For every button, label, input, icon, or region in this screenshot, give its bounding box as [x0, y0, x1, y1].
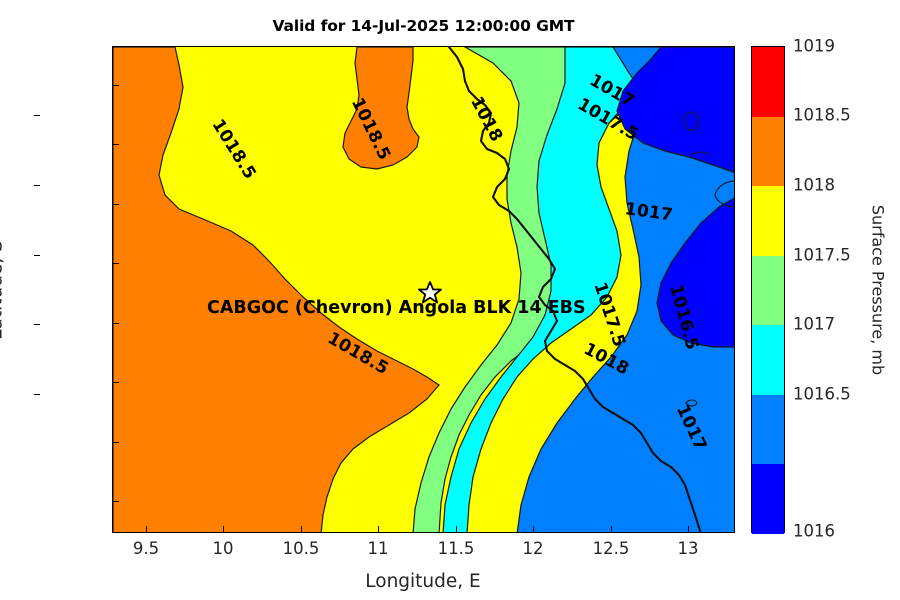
colorbar-tick-mark: [34, 394, 40, 395]
x-tick-label: 12.5: [593, 539, 630, 558]
colorbar-band-1018p5-1019: [752, 47, 784, 117]
contour-fill-svg: [113, 47, 735, 533]
y-tick-mark: [112, 382, 119, 383]
x-tick-mark: [301, 526, 302, 533]
x-tick-label: 10.5: [283, 539, 320, 558]
colorbar-band-1017p5-1018: [752, 186, 784, 256]
x-tick-mark: [146, 526, 147, 533]
colorbar-tick-label: 1017: [793, 315, 835, 334]
contour-plot-area[interactable]: 1018.5 1018.5 1018 1017.5 1017 1017 1016…: [112, 46, 735, 533]
y-tick-mark: [112, 323, 119, 324]
colorbar-tick-label: 1019: [793, 37, 835, 56]
x-axis-title: Longitude, E: [365, 571, 480, 592]
y-tick-mark: [112, 263, 119, 264]
x-tick-mark: [223, 526, 224, 533]
chart-title: Valid for 14-Jul-2025 12:00:00 GMT: [112, 17, 735, 35]
x-tick-label: 10: [213, 539, 234, 558]
x-tick-mark: [611, 526, 612, 533]
figure-root: Valid for 14-Jul-2025 12:00:00 GMT: [0, 0, 900, 600]
x-tick-mark: [378, 526, 379, 533]
colorbar-band-1018-1018p5: [752, 117, 784, 187]
colorbar-tick-mark: [34, 185, 40, 186]
colorbar-tick-mark: [34, 115, 40, 116]
y-tick-mark: [112, 144, 119, 145]
colorbar-band-1017-1017p5: [752, 256, 784, 326]
colorbar-tick-label: 1018.5: [793, 106, 851, 125]
x-tick-mark: [533, 526, 534, 533]
colorbar-tick-label: 1016: [793, 522, 835, 541]
colorbar-tick-label: 1018: [793, 176, 835, 195]
x-tick-label: 13: [678, 539, 699, 558]
x-tick-label: 11.5: [438, 539, 475, 558]
x-tick-mark: [456, 526, 457, 533]
y-tick-mark: [112, 501, 119, 502]
colorbar-title: Surface Pressure, mb: [869, 205, 888, 375]
colorbar-band-below-1016: [752, 464, 784, 534]
colorbar[interactable]: [751, 46, 785, 533]
y-tick-mark: [112, 85, 119, 86]
x-tick-label: 12: [523, 539, 544, 558]
colorbar-tick-label: 1017.5: [793, 246, 851, 265]
colorbar-band-1016-1016p5: [752, 395, 784, 465]
colorbar-tick-mark: [34, 324, 40, 325]
x-tick-mark: [688, 526, 689, 533]
y-tick-mark: [112, 204, 119, 205]
y-tick-mark: [112, 442, 119, 443]
station-label: CABGOC (Chevron) Angola BLK 14 EBS: [207, 298, 586, 318]
x-tick-label: 11: [368, 539, 389, 558]
colorbar-tick-mark: [34, 255, 40, 256]
y-axis-title: Latitude, S: [0, 240, 7, 340]
colorbar-tick-label: 1016.5: [793, 385, 851, 404]
x-tick-label: 9.5: [133, 539, 159, 558]
colorbar-band-1016p5-1017: [752, 325, 784, 395]
